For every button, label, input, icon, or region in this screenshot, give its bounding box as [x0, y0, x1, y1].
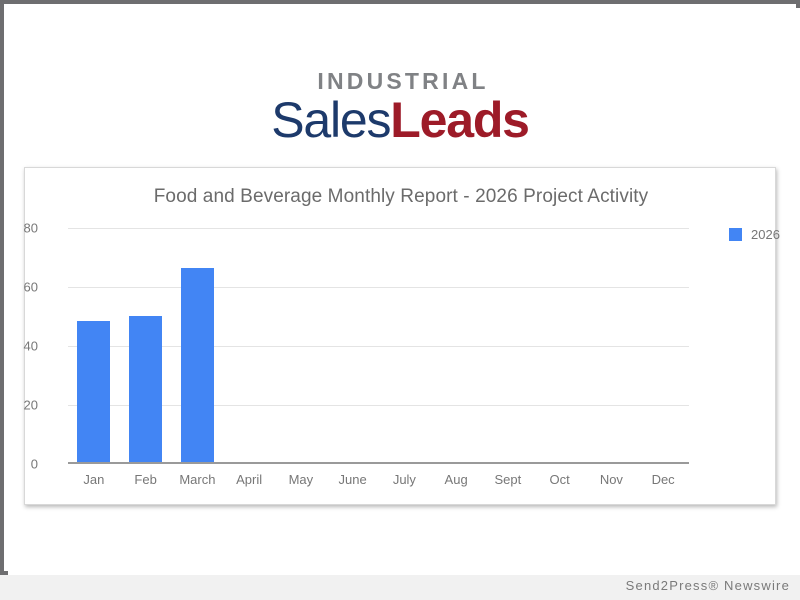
y-tick-60: 60	[0, 280, 38, 295]
y-tick-40: 40	[0, 339, 38, 354]
y-tick-20: 20	[0, 398, 38, 413]
x-tick-dec: Dec	[633, 472, 693, 487]
legend-label-2026: 2026	[751, 227, 780, 242]
bar-jan[interactable]	[77, 321, 110, 463]
chart-legend: 2026	[729, 227, 780, 242]
gridline-80	[68, 228, 689, 229]
bar-feb[interactable]	[129, 316, 162, 464]
legend-swatch-2026	[729, 228, 742, 241]
logo-sales-text: Sales	[271, 92, 390, 148]
chart-title: Food and Beverage Monthly Report - 2026 …	[25, 186, 777, 208]
x-axis-line	[68, 462, 689, 464]
gridline-60	[68, 287, 689, 288]
plot-area: 020406080 JanFebMarchAprilMayJuneJulyAug…	[68, 228, 689, 464]
brand-logo: INDUSTRIAL SalesLeads	[0, 70, 800, 145]
bar-march[interactable]	[181, 268, 214, 463]
y-tick-80: 80	[0, 221, 38, 236]
logo-industrial-text: INDUSTRIAL	[6, 70, 800, 93]
slide-canvas: INDUSTRIAL SalesLeads Food and Beverage …	[0, 0, 800, 600]
logo-wordmark: SalesLeads	[0, 95, 800, 145]
logo-leads-text: Leads	[390, 92, 529, 148]
chart-card: Food and Beverage Monthly Report - 2026 …	[24, 167, 776, 505]
y-tick-0: 0	[0, 457, 38, 472]
footer-attribution: Send2Press® Newswire	[626, 578, 790, 593]
